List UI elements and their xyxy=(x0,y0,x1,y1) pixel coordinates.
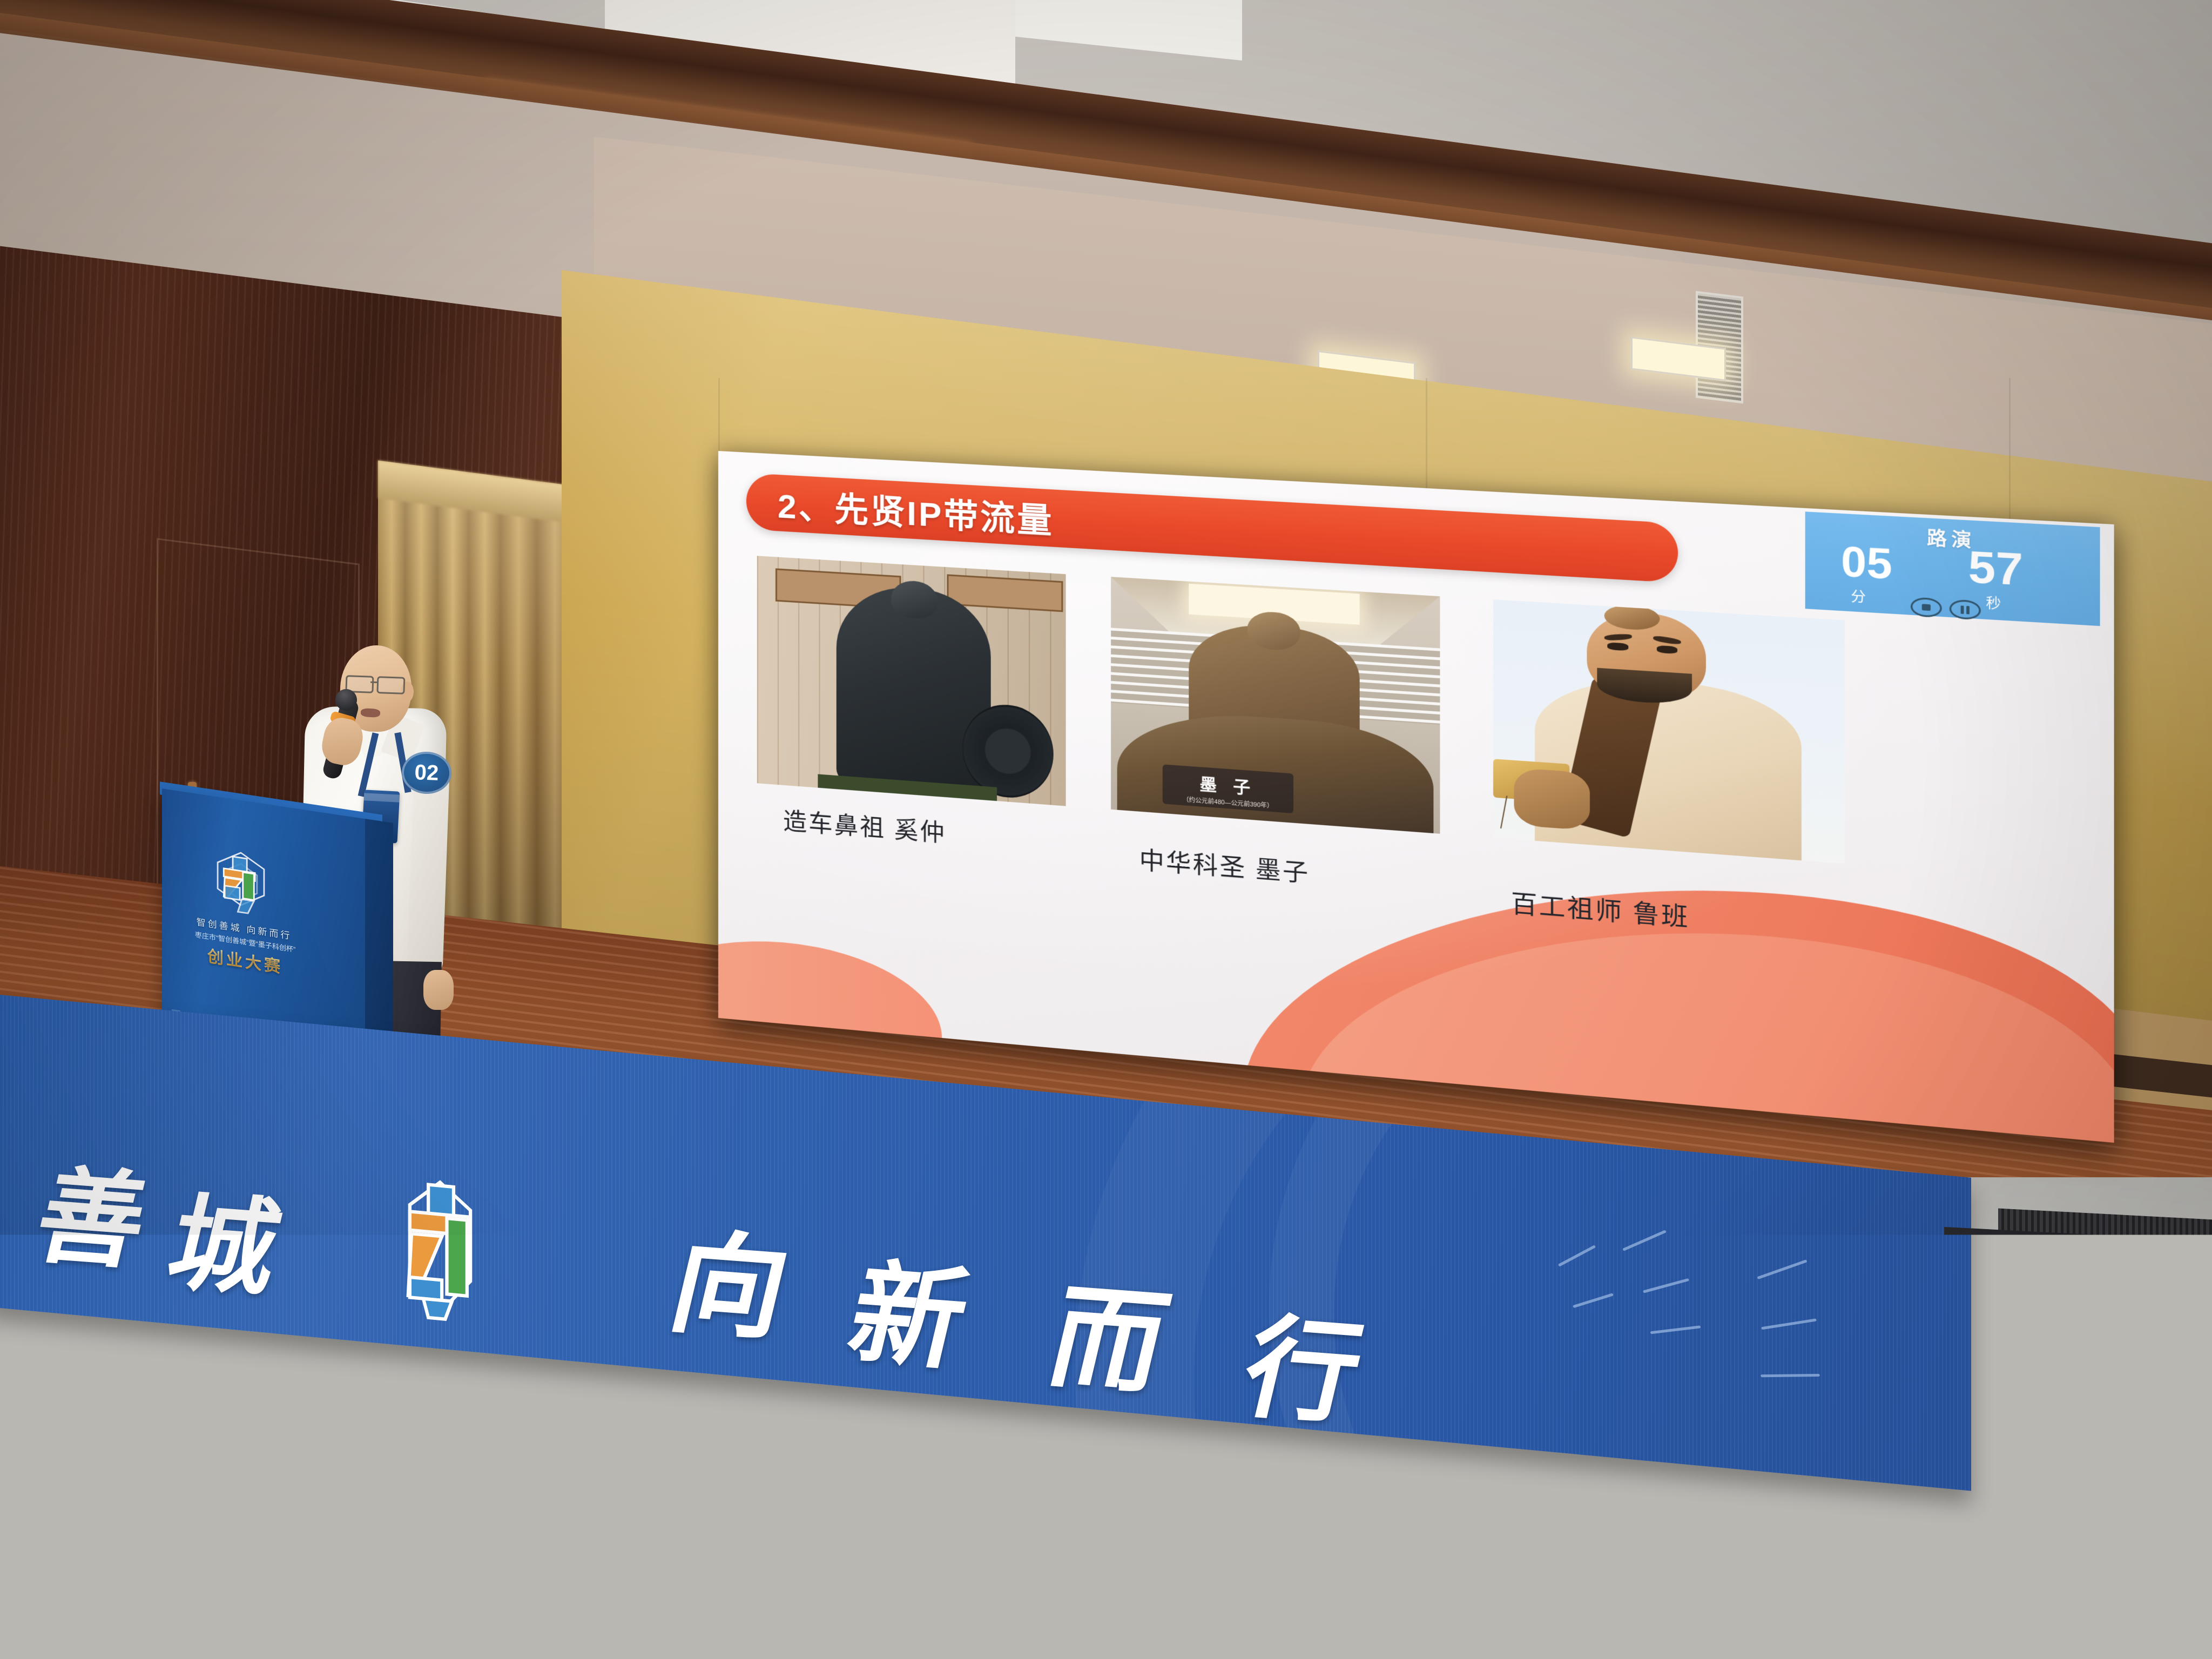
banner-char-4: 新 xyxy=(841,1220,956,1392)
banner-char-3: 向 xyxy=(663,1190,778,1361)
photo-luban xyxy=(1493,599,1845,864)
timer-minutes-unit: 分 xyxy=(1851,585,1866,606)
eyeglasses-icon xyxy=(346,675,409,691)
banner-char-5: 而 xyxy=(1041,1244,1156,1415)
presenter-hand-right xyxy=(423,970,454,1010)
speaker-horn-slots xyxy=(2051,1278,2121,1541)
banner-char-2: 城 xyxy=(161,1156,269,1317)
photo-mozi: 墨 子 （约公元前480—公元前390年） xyxy=(1111,577,1440,834)
line-array-speaker: SOUND xyxy=(1959,1252,2212,1568)
pause-icon xyxy=(1961,605,1970,614)
banner-char-1: 善 xyxy=(29,1129,137,1290)
presenter-arm xyxy=(407,766,450,978)
timer-seconds-unit: 秒 xyxy=(1986,591,2001,613)
timer-seconds: 57 xyxy=(1968,545,2023,591)
timer-minutes: 05 xyxy=(1841,541,1892,585)
stop-icon xyxy=(1922,604,1931,611)
speaker-brand-badge: SOUND xyxy=(1978,1515,2027,1539)
scene-root: 2、先贤IP带流量 路演 05 分 57 秒 xyxy=(0,0,2212,1659)
timer-pause-button[interactable] xyxy=(1950,599,1981,620)
photo-xizhong xyxy=(757,556,1066,806)
presenter-mouth xyxy=(361,708,381,718)
timer-stop-button[interactable] xyxy=(1911,597,1942,618)
banner-logo xyxy=(389,1172,491,1328)
presentation-timer-panel: 路演 05 分 57 秒 xyxy=(1805,511,2100,626)
banner-char-6: 行 xyxy=(1235,1274,1350,1446)
podium-logo xyxy=(211,846,271,921)
